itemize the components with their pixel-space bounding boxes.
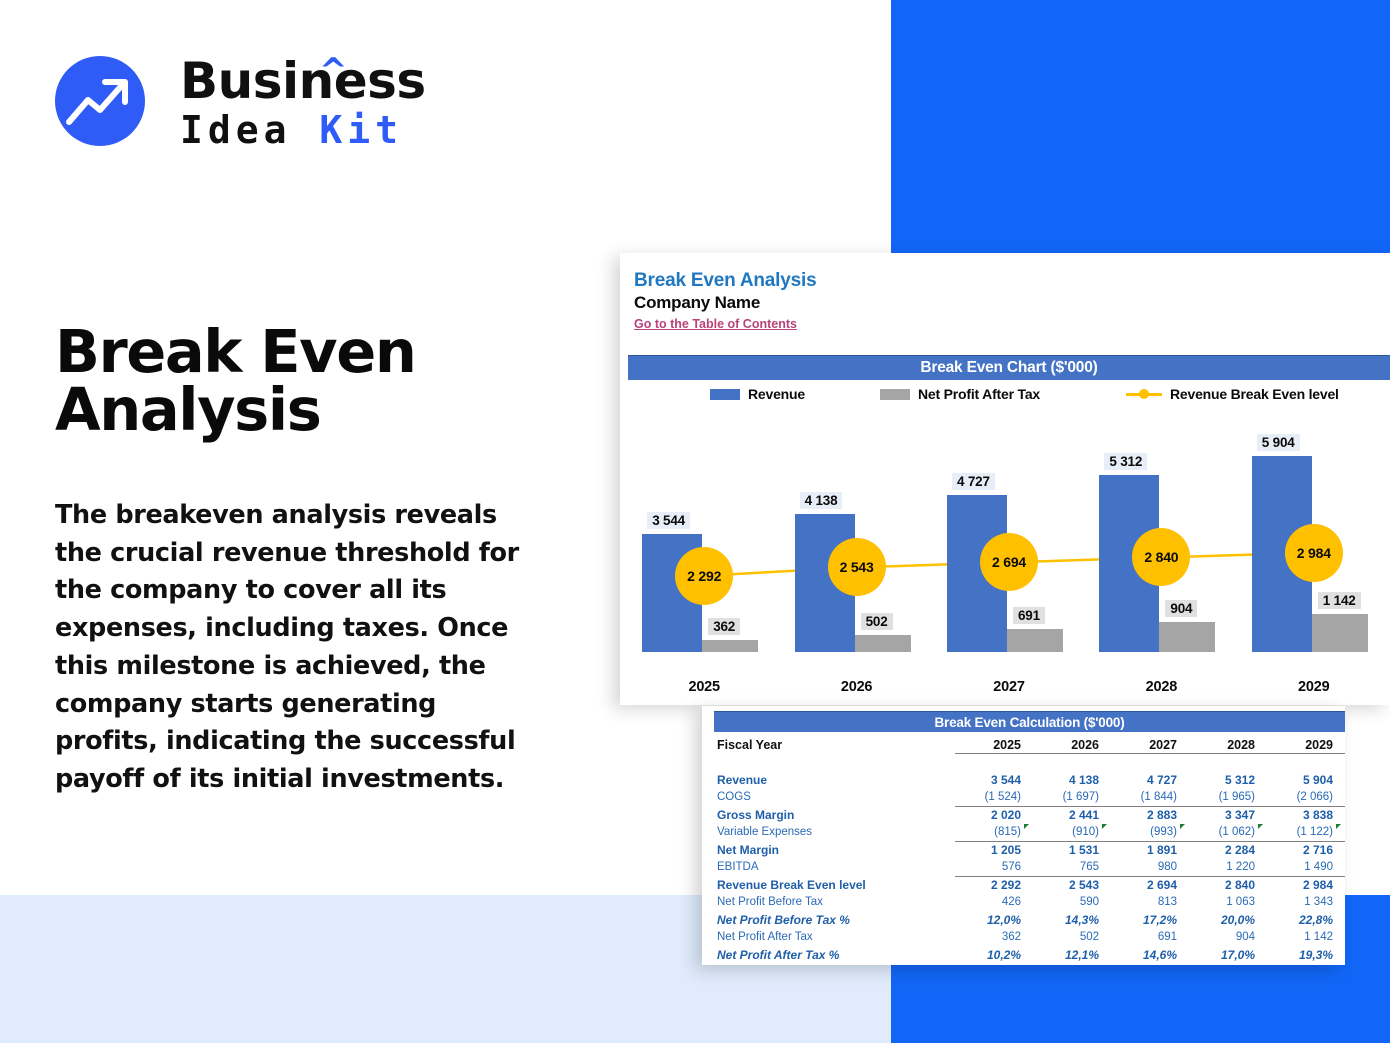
table-row-label: Net Profit After Tax: [714, 929, 955, 947]
table-cell: (993): [1111, 824, 1189, 842]
sheet-company-name: Company Name: [634, 293, 760, 313]
table-row-label: Variable Expenses: [714, 824, 955, 842]
table-header-2028: 2028: [1189, 736, 1267, 754]
data-label-net-profit-after-tax: 904: [1165, 600, 1197, 617]
table-row: EBITDA5767659801 2201 490: [714, 859, 1345, 877]
table-cell: 362: [955, 929, 1033, 947]
table-row-label: Net Profit Before Tax %: [714, 911, 955, 929]
table-row-label: Revenue: [714, 771, 955, 789]
table-header-2029: 2029: [1267, 736, 1345, 754]
table-row-label: Net Margin: [714, 841, 955, 859]
table-cell: 1 531: [1033, 841, 1111, 859]
legend-item-break-even-level[interactable]: Revenue Break Even level: [1126, 386, 1339, 402]
table-cell: 1 220: [1189, 859, 1267, 877]
table-cell: 14,3%: [1033, 911, 1111, 929]
table-row: Net Profit Before Tax4265908131 0631 343: [714, 894, 1345, 912]
table-cell: 3 347: [1189, 806, 1267, 824]
sheet-title: Break Even Analysis: [634, 270, 816, 292]
table-row: COGS(1 524)(1 697)(1 844)(1 965)(2 066): [714, 789, 1345, 807]
brand-logo: Business ^ Idea Kit: [55, 54, 435, 154]
table-row-label: Gross Margin: [714, 806, 955, 824]
table-row: Revenue Break Even level2 2922 5432 6942…: [714, 876, 1345, 894]
table-cell: 502: [1033, 929, 1111, 947]
data-label-net-profit-after-tax: 502: [861, 613, 893, 630]
table-cell: 20,0%: [1189, 911, 1267, 929]
legend-swatch-icon-revenue: [710, 389, 740, 400]
table-cell: 2 984: [1267, 876, 1345, 894]
break-even-marker[interactable]: 2 984: [1285, 524, 1343, 582]
table-cell: 19,3%: [1267, 946, 1345, 964]
table-row: Net Margin1 2051 5311 8912 2842 716: [714, 841, 1345, 859]
x-axis-label: 2026: [780, 679, 932, 695]
data-label-revenue: 4 727: [952, 473, 995, 490]
table-cell: 2 020: [955, 806, 1033, 824]
brand-word-idea: Idea: [180, 108, 292, 152]
break-even-marker[interactable]: 2 292: [675, 547, 733, 605]
chart-legend: Revenue Net Profit After Tax Revenue Bre…: [628, 383, 1390, 409]
table-cell: 2 284: [1189, 841, 1267, 859]
table-cell: 1 490: [1267, 859, 1345, 877]
table-cell: 1 343: [1267, 894, 1345, 912]
table-cell: 17,0%: [1189, 946, 1267, 964]
table-cell: 3 544: [955, 771, 1033, 789]
data-label-revenue: 5 312: [1104, 453, 1147, 470]
table-header-2026: 2026: [1033, 736, 1111, 754]
data-label-revenue: 5 904: [1257, 434, 1300, 451]
x-axis-label: 2027: [933, 679, 1085, 695]
table-cell: 5 904: [1267, 771, 1345, 789]
table-cell: 1 142: [1267, 929, 1345, 947]
table-cell: 980: [1111, 859, 1189, 877]
table-row: Net Profit After Tax3625026919041 142: [714, 929, 1345, 947]
table-cell: (2 066): [1267, 789, 1345, 807]
break-even-marker[interactable]: 2 543: [828, 538, 886, 596]
table-row: Net Profit After Tax %10,2%12,1%14,6%17,…: [714, 946, 1345, 964]
table-cell: 3 838: [1267, 806, 1345, 824]
page-description: The breakeven analysis reveals the cruci…: [55, 497, 545, 799]
table-cell: 2 840: [1189, 876, 1267, 894]
table-cell: 426: [955, 894, 1033, 912]
growth-arrow-icon: [55, 56, 145, 146]
bar-net-profit-after-tax[interactable]: [1159, 622, 1215, 652]
table-cell: 590: [1033, 894, 1111, 912]
slide-root: Business ^ Idea Kit Break Even Analysis …: [0, 0, 1390, 1043]
data-label-net-profit-after-tax: 1 142: [1318, 592, 1361, 609]
data-label-revenue: 3 544: [647, 512, 690, 529]
x-axis-label: 2028: [1085, 679, 1237, 695]
table-cell: 4 727: [1111, 771, 1189, 789]
table-cell: 2 883: [1111, 806, 1189, 824]
bar-net-profit-after-tax[interactable]: [1007, 629, 1063, 652]
table-cell: 2 543: [1033, 876, 1111, 894]
brand-word-business: Business: [180, 52, 426, 110]
table-cell: 4 138: [1033, 771, 1111, 789]
bar-net-profit-after-tax[interactable]: [702, 640, 758, 652]
legend-label-revenue: Revenue: [748, 386, 805, 402]
table-cell: (815): [955, 824, 1033, 842]
chart-banner-title: Break Even Chart ($'000): [628, 355, 1390, 380]
legend-item-revenue[interactable]: Revenue: [710, 386, 805, 402]
data-label-revenue: 4 138: [800, 492, 843, 509]
table-row: Variable Expenses(815)(910)(993)(1 062)(…: [714, 824, 1345, 842]
table-header-2025: 2025: [955, 736, 1033, 754]
table-cell: (1 965): [1189, 789, 1267, 807]
table-cell: 1 063: [1189, 894, 1267, 912]
brand-word-kit: Kit: [319, 108, 403, 152]
table-row-label: COGS: [714, 789, 955, 807]
table-cell: 691: [1111, 929, 1189, 947]
table-cell: (1 122): [1267, 824, 1345, 842]
table-cell: 22,8%: [1267, 911, 1345, 929]
table-cell: 2 292: [955, 876, 1033, 894]
brand-name-line2: Idea Kit: [180, 108, 426, 152]
table-cell: 2 716: [1267, 841, 1345, 859]
chart-plot-area: 3 54436220252 2924 13850220262 5434 7276…: [628, 413, 1390, 705]
table-header-2027: 2027: [1111, 736, 1189, 754]
x-axis-label: 2029: [1238, 679, 1390, 695]
table-cell: 5 312: [1189, 771, 1267, 789]
table-row-label: Net Profit After Tax %: [714, 946, 955, 964]
brand-name-line1: Business ^: [180, 54, 426, 108]
legend-label-break-even: Revenue Break Even level: [1170, 386, 1339, 402]
table-cell: 1 891: [1111, 841, 1189, 859]
table-banner-title: Break Even Calculation ($'000): [714, 711, 1345, 732]
table-cell: (1 844): [1111, 789, 1189, 807]
circumflex-accent-icon: ^: [319, 44, 347, 98]
break-even-marker[interactable]: 2 694: [980, 533, 1038, 591]
table-cell: 10,2%: [955, 946, 1033, 964]
table-body: Revenue3 5444 1384 7275 3125 904COGS(1 5…: [714, 754, 1345, 964]
table-cell: 904: [1189, 929, 1267, 947]
data-label-net-profit-after-tax: 362: [708, 618, 740, 635]
table-cell: 2 441: [1033, 806, 1111, 824]
table-row-label: Revenue Break Even level: [714, 876, 955, 894]
table-header-row: Fiscal Year 2025 2026 2027 2028 2029: [714, 736, 1345, 754]
table-row-label: EBITDA: [714, 859, 955, 877]
table-cell: (1 062): [1189, 824, 1267, 842]
legend-label-net-profit: Net Profit After Tax: [918, 386, 1040, 402]
calculation-table-card: Break Even Calculation ($'000) Fiscal Ye…: [702, 706, 1345, 965]
table-cell: 12,0%: [955, 911, 1033, 929]
table-cell: (1 524): [955, 789, 1033, 807]
table-row-label: Net Profit Before Tax: [714, 894, 955, 912]
table-row: Net Profit Before Tax %12,0%14,3%17,2%20…: [714, 911, 1345, 929]
legend-item-net-profit-after-tax[interactable]: Net Profit After Tax: [880, 386, 1040, 402]
break-even-marker[interactable]: 2 840: [1132, 528, 1190, 586]
table-cell: 813: [1111, 894, 1189, 912]
x-axis-label: 2025: [628, 679, 780, 695]
table-cell: 12,1%: [1033, 946, 1111, 964]
background-block-top-right: [891, 0, 1390, 253]
table-row: Revenue3 5444 1384 7275 3125 904: [714, 771, 1345, 789]
break-even-calculation-table: Fiscal Year 2025 2026 2027 2028 2029 Rev…: [714, 736, 1345, 964]
page-title: Break Even Analysis: [55, 323, 535, 439]
table-cell: 576: [955, 859, 1033, 877]
bar-net-profit-after-tax[interactable]: [1312, 614, 1368, 652]
legend-swatch-icon-net-profit: [880, 389, 910, 400]
table-row: Gross Margin2 0202 4412 8833 3473 838: [714, 806, 1345, 824]
table-cell: 17,2%: [1111, 911, 1189, 929]
legend-line-marker-icon: [1126, 387, 1162, 401]
table-cell: (910): [1033, 824, 1111, 842]
table-header-fiscal-year: Fiscal Year: [714, 736, 955, 754]
table-cell: (1 697): [1033, 789, 1111, 807]
chart-card: Break Even Analysis Company Name Go to t…: [620, 253, 1390, 705]
table-cell: 2 694: [1111, 876, 1189, 894]
data-label-net-profit-after-tax: 691: [1013, 607, 1045, 624]
table-of-contents-link[interactable]: Go to the Table of Contents: [634, 317, 797, 331]
table-cell: 1 205: [955, 841, 1033, 859]
table-cell: 14,6%: [1111, 946, 1189, 964]
table-cell: 765: [1033, 859, 1111, 877]
bar-net-profit-after-tax[interactable]: [855, 635, 911, 652]
table-spacer-row: [714, 754, 1345, 772]
